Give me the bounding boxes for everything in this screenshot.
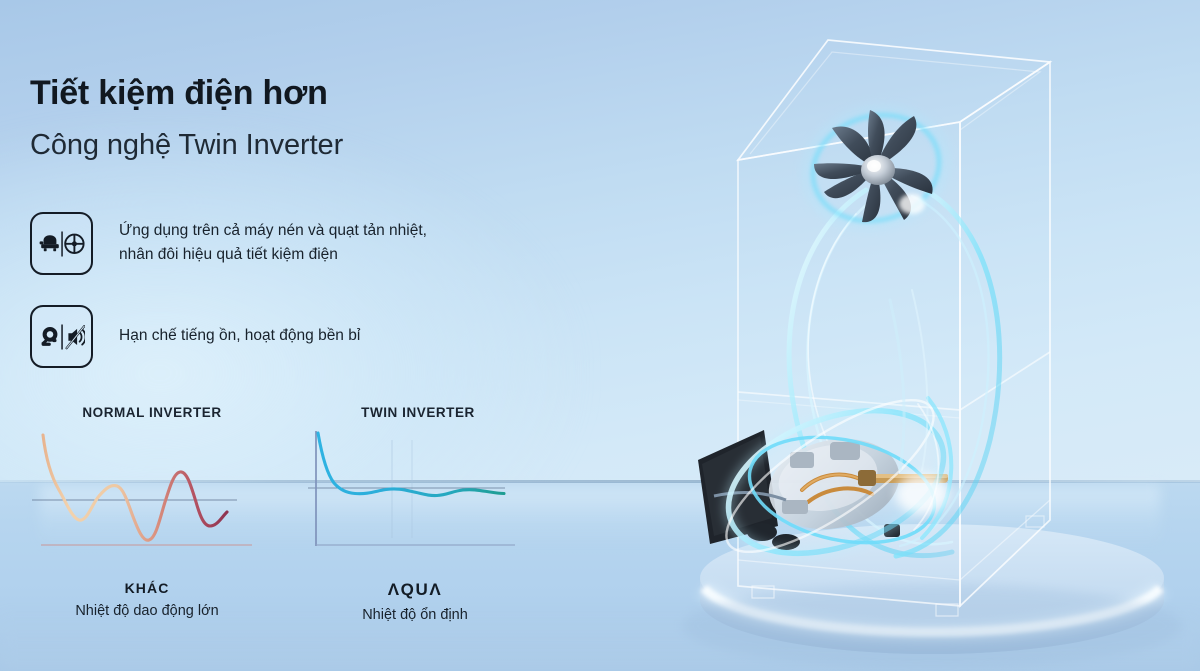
chart-twin-inverter: TWIN INVERTER xyxy=(300,405,530,623)
compressor-and-fan-icon xyxy=(30,212,93,275)
chart-description: Nhiệt độ ổn định xyxy=(300,607,530,623)
banner-stage: Tiết kiệm điện hơn Công nghệ Twin Invert… xyxy=(0,0,1200,671)
chart-plot-normal xyxy=(22,426,272,571)
feature-item-efficiency: Ứng dụng trên cả máy nén và quạt tản nhi… xyxy=(30,212,427,275)
chart-footer: ΛQUΛ Nhiệt độ ổn định xyxy=(300,580,530,623)
chart-title: TWIN INVERTER xyxy=(300,405,530,420)
aqua-logo: ΛQUΛ xyxy=(300,580,530,600)
comparison-charts: NORMAL INVERTER xyxy=(0,405,540,655)
feature-item-quiet: Hạn chế tiếng ồn, hoạt động bền bỉ xyxy=(30,305,360,368)
page-title: Tiết kiệm điện hơn xyxy=(30,74,328,112)
chart-footer: KHÁC Nhiệt độ dao động lớn xyxy=(22,580,272,619)
product-illustration xyxy=(660,0,1200,671)
compressor-and-mute-icon xyxy=(30,305,93,368)
chart-normal-inverter: NORMAL INVERTER xyxy=(22,405,272,619)
chart-description: Nhiệt độ dao động lớn xyxy=(22,603,272,619)
feature-label: Hạn chế tiếng ồn, hoạt động bền bỉ xyxy=(119,305,360,348)
chart-brand-label: KHÁC xyxy=(22,580,272,596)
page-subtitle: Công nghệ Twin Inverter xyxy=(30,128,343,163)
fan-blade xyxy=(793,94,959,242)
chart-plot-twin xyxy=(300,426,530,571)
chart-title: NORMAL INVERTER xyxy=(22,405,272,420)
feature-label: Ứng dụng trên cả máy nén và quạt tản nhi… xyxy=(119,212,427,267)
